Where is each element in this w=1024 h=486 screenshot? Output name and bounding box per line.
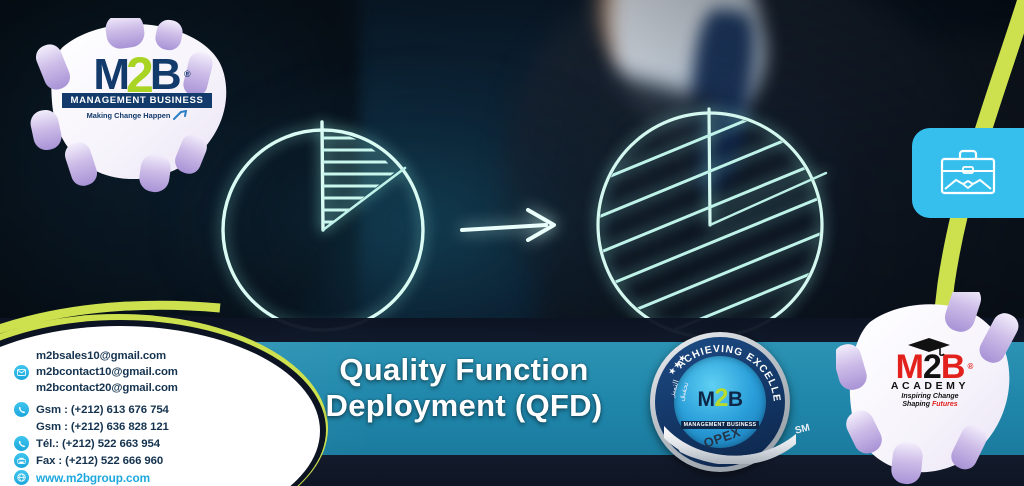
phone-icon [14, 436, 29, 451]
academy-tagline-2: Shaping Futures [860, 401, 1000, 409]
briefcase-tab[interactable] [912, 128, 1024, 218]
m2b-wordmark: M2B® [93, 52, 180, 95]
contact-web-row: www.m2bgroup.com [14, 469, 264, 486]
phone-icon [14, 402, 29, 417]
spacer-icon [14, 419, 29, 434]
m2b-tagline: Making Change Happen [87, 111, 171, 120]
contact-email-row-3: m2bcontact20@gmail.com [14, 380, 264, 396]
badge-letter-b: B [728, 388, 743, 411]
up-arrow-icon [173, 110, 187, 120]
fax-icon [14, 453, 29, 468]
contact-list: m2bsales10@gmail.com m2bcontact10@gmail.… [14, 348, 264, 486]
academy-tagline-2a: Shaping [902, 401, 932, 408]
promo-banner: Quality Function Deployment (QFD) m2bsal… [0, 0, 1024, 486]
email-1[interactable]: m2bsales10@gmail.com [36, 350, 166, 362]
registered-icon: ® [184, 54, 190, 94]
m2b-letter-m: M [93, 50, 129, 99]
academy-tagline: Inspiring Change Shaping Futures [860, 393, 1000, 409]
badge-digit-2: 2 [714, 384, 727, 412]
email-2[interactable]: m2bcontact10@gmail.com [36, 366, 178, 378]
spacer-icon [14, 381, 29, 396]
globe-icon [14, 470, 29, 485]
academy-tagline-2b: Futures [932, 401, 958, 408]
academy-tagline-1: Inspiring Change [860, 393, 1000, 401]
right-arrow-icon [458, 200, 570, 256]
contact-gsm-row-1: Gsm : (+212) 613 676 754 [14, 401, 264, 418]
envelope-icon [14, 365, 29, 380]
page-title: Quality Function Deployment (QFD) [278, 352, 650, 424]
title-line-2: Deployment (QFD) [278, 388, 650, 424]
fax[interactable]: Fax : (+212) 522 666 960 [36, 455, 163, 467]
website[interactable]: www.m2bgroup.com [36, 471, 150, 485]
m2b-digit-2: 2 [126, 47, 153, 103]
opex-badge: ACHIEVING EXCELLENCE ★★★ M2B MANAGEMENT … [650, 332, 790, 472]
m2b-tagline-row: Making Change Happen [62, 110, 212, 120]
m2b-academy-logo: M2B® ACADEMY Inspiring Change Shaping Fu… [860, 352, 1000, 409]
contact-tel-row: Tél.: (+212) 522 663 954 [14, 435, 264, 452]
contact-gsm-row-2: Gsm : (+212) 636 828 121 [14, 418, 264, 435]
title-line-1: Quality Function [278, 352, 650, 388]
briefcase-handshake-icon [937, 147, 999, 199]
m2b-brand-logo: M2B® MANAGEMENT BUSINESS Making Change H… [62, 52, 212, 120]
contact-email-row-1: m2bsales10@gmail.com [14, 348, 264, 364]
badge-letter-m: M [697, 388, 714, 411]
telephone[interactable]: Tél.: (+212) 522 663 954 [36, 438, 160, 450]
phone-2[interactable]: Gsm : (+212) 636 828 121 [36, 421, 169, 433]
phone-1[interactable]: Gsm : (+212) 613 676 754 [36, 404, 169, 416]
email-3[interactable]: m2bcontact20@gmail.com [36, 382, 178, 394]
spacer-icon [14, 349, 29, 364]
contact-email-row-2: m2bcontact10@gmail.com [14, 364, 264, 380]
registered-icon: ® [968, 352, 973, 382]
graduation-cap-icon [906, 336, 952, 358]
pie-chart-full-icon [590, 95, 840, 350]
contact-fax-row: Fax : (+212) 522 666 960 [14, 452, 264, 469]
m2b-letter-b: B [150, 50, 181, 99]
